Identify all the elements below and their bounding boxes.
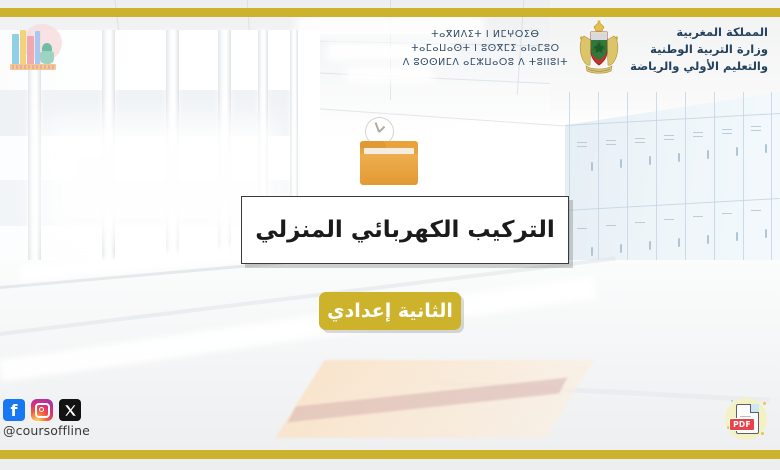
instagram-glyph [35,403,50,418]
morocco-coat-of-arms-icon [576,20,622,78]
social-handle[interactable]: @coursoffline [3,423,90,438]
presentation-slide: ⵜⴰⴳⵍⴷⵉⵜ ⵏ ⵍⵎⵖⵔⵉⴱ ⵜⴰⵎⴰⵡⴰⵙⵜ ⵏ ⵓⵙⴳⵎⵉ ⴰⵏⴰⵎⵓⵔ… [0,0,780,470]
social-links: f @coursoffline [3,399,90,438]
grade-level-label: الثانية إعدادي [327,300,453,322]
tifinagh-line-1: ⵜⴰⴳⵍⴷⵉⵜ ⵏ ⵍⵎⵖⵔⵉⴱ [403,28,568,42]
ministry-arabic-block: المملكة المغربية وزارة التربية الوطنية و… [630,24,768,75]
pdf-download-badge[interactable]: PDF [723,396,769,442]
folder-tab [360,141,386,148]
pot-icon [40,51,54,64]
shelf-decoration [12,65,54,69]
bottom-accent-bar [0,450,780,459]
pdf-page-fold [750,404,759,413]
tifinagh-line-2: ⵜⴰⵎⴰⵡⴰⵙⵜ ⵏ ⵓⵙⴳⵎⵉ ⴰⵏⴰⵎⵓⵔ [403,42,568,56]
ministry-arabic-line-2: وزارة التربية الوطنية [630,41,768,58]
sparkle-icon [763,402,766,405]
lesson-title-card: التركيب الكهربائي المنزلي [241,196,569,264]
facebook-glyph: f [11,401,18,420]
folder-icon [360,141,418,185]
top-accent-bar [0,8,780,17]
book-icon [27,36,34,64]
page-title: التركيب الكهربائي المنزلي [255,217,554,243]
ministry-tifinagh-block: ⵜⴰⴳⵍⴷⵉⵜ ⵏ ⵍⵎⵖⵔⵉⴱ ⵜⴰⵎⴰⵡⴰⵙⵜ ⵏ ⵓⵙⴳⵎⵉ ⴰⵏⴰⵎⵓⵔ… [403,28,568,70]
pdf-label: PDF [729,418,755,431]
x-glyph [64,404,77,417]
facebook-icon[interactable]: f [3,399,25,421]
tifinagh-line-3: ⴷ ⵓⵙⵙⵍⵎⴷ ⴰⵎⵣⵡⴰⵔⵓ ⴷ ⵜⵓⵏⵏⵓⵏⵜ [403,56,568,70]
book-icon [20,30,26,64]
social-icon-row: f [3,399,90,421]
sparkle-icon [731,400,733,402]
ministry-arabic-line-3: والتعليم الأولي والرياضة [630,58,768,75]
bookshelf-logo[interactable] [6,22,64,78]
x-twitter-icon[interactable] [59,399,81,421]
sparkle-icon [761,432,764,435]
folder-front [360,154,418,185]
instagram-icon[interactable] [31,399,53,421]
book-icon [12,34,19,64]
ministry-header: ⵜⴰⴳⵍⴷⵉⵜ ⵏ ⵍⵎⵖⵔⵉⴱ ⵜⴰⵎⴰⵡⴰⵙⵜ ⵏ ⵓⵙⴳⵎⵉ ⴰⵏⴰⵎⵓⵔ… [403,20,768,78]
grade-level-badge[interactable]: الثانية إعدادي [319,292,461,330]
ministry-arabic-line-1: المملكة المغربية [630,24,768,41]
